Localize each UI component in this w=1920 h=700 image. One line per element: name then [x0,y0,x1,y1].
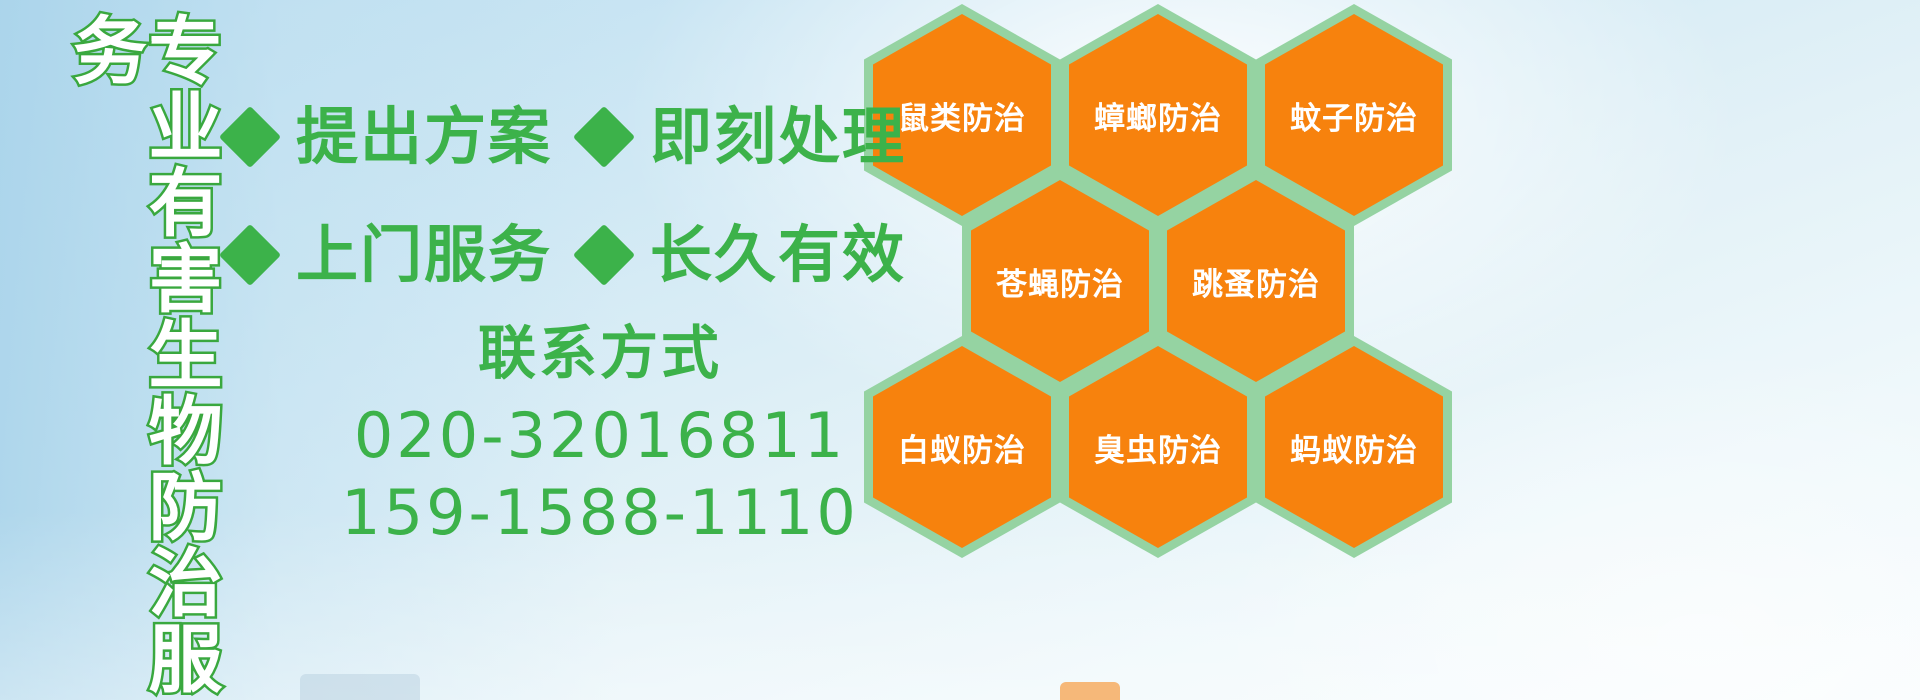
service-label: 蟑螂防治 [1094,93,1222,138]
phone-number-landline[interactable]: 020-32016811 [300,397,900,475]
contact-title: 联系方式 [300,320,900,387]
feature-item: 长久有效 [582,224,906,286]
phone-number-mobile[interactable]: 159-1588-1110 [300,474,900,552]
background-decoration-right [1060,682,1120,700]
contact-block: 联系方式 020-32016811 159-1588-1110 [300,320,900,552]
service-label: 蚊子防治 [1290,93,1418,138]
feature-list: 提出方案 即刻处理 上门服务 长久有效 [228,78,888,314]
service-label: 苍蝇防治 [996,259,1124,304]
service-label: 鼠类防治 [898,93,1026,138]
service-label: 臭虫防治 [1094,425,1222,470]
vertical-company-title: 专业有害生物防治服务 [104,12,216,700]
feature-item: 即刻处理 [582,106,906,168]
feature-label: 提出方案 [296,106,552,168]
service-honeycomb: 鼠类防治 蟑螂防治 蚊子防治 苍蝇防治 跳蚤防治 白蚁防治 臭虫防治 蚂蚁 [858,0,1458,580]
diamond-bullet-icon [573,224,635,286]
feature-item: 上门服务 [228,224,552,286]
service-label: 蚂蚁防治 [1290,425,1418,470]
diamond-bullet-icon [219,224,281,286]
feature-label: 上门服务 [296,224,552,286]
feature-label: 长久有效 [650,224,906,286]
service-label: 跳蚤防治 [1192,259,1320,304]
pest-control-banner: 专业有害生物防治服务 提出方案 即刻处理 上门服务 长久有效 [0,0,1920,700]
diamond-bullet-icon [219,106,281,168]
service-label: 白蚁防治 [898,425,1026,470]
feature-row: 提出方案 即刻处理 [228,78,888,196]
feature-row: 上门服务 长久有效 [228,196,888,314]
feature-item: 提出方案 [228,106,552,168]
diamond-bullet-icon [573,106,635,168]
background-decoration-left [300,674,420,700]
feature-label: 即刻处理 [650,106,906,168]
